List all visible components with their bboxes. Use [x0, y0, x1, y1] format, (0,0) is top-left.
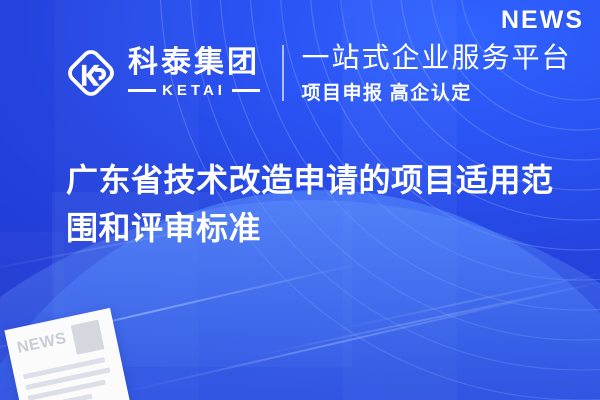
news-banner: NEWS 科泰集团 KETAI 一站式企业服务平	[0, 0, 600, 400]
header-divider	[282, 45, 284, 101]
brand-name-cn: 科泰集团	[128, 47, 260, 79]
news-badge: NEWS	[501, 6, 584, 35]
newspaper-headline: NEWS	[16, 331, 68, 357]
tagline-block: 一站式企业服务平台 项目申报 高企认定	[302, 41, 572, 104]
article-title: 广东省技术改造申请的项目适用范围和评审标准	[66, 156, 566, 252]
newspaper-image-block	[71, 320, 105, 355]
wordmark-dash-left	[128, 89, 156, 92]
ketai-diamond-monogram-icon	[62, 44, 120, 102]
tagline-main: 一站式企业服务平台	[302, 41, 572, 74]
brand-wordmark: 科泰集团 KETAI	[128, 47, 260, 98]
brand-header: 科泰集团 KETAI 一站式企业服务平台 项目申报 高企认定	[62, 40, 572, 106]
tagline-sub: 项目申报 高企认定	[302, 78, 572, 105]
brand-name-en-row: KETAI	[128, 82, 260, 99]
wordmark-dash-right	[232, 89, 260, 92]
brand-name-en: KETAI	[162, 82, 226, 99]
